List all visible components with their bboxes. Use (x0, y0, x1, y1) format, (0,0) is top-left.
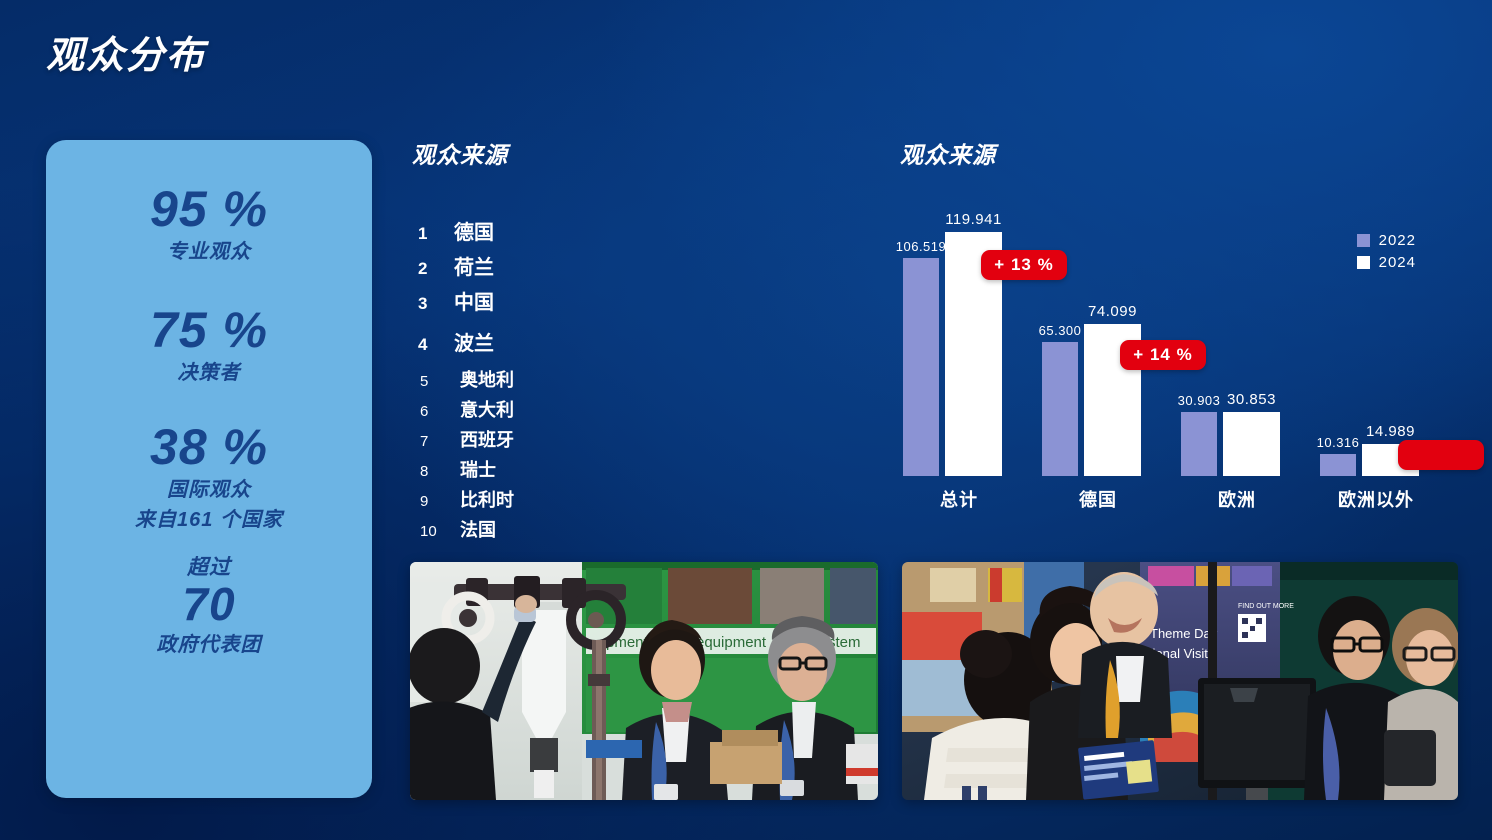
chart-heading: 观众来源 (900, 136, 996, 170)
stat-value-professional: 95 % (46, 184, 372, 235)
x-axis-label-outside-europe: 欧洲以外 (1338, 486, 1414, 512)
list-item: 2 荷兰 (418, 251, 628, 280)
bar-2022: 30.903 (1181, 412, 1217, 476)
list-item-rank: 3 (418, 294, 454, 314)
list-item: 5 奥地利 (418, 366, 628, 392)
photo-visitor-conversation: Theme Day sional Visit FIND OUT MORE (902, 562, 1458, 800)
slide-root: 观众分布 95 % 专业观众 75 % 决策者 38 % 国际观众 来自161 … (0, 0, 1492, 840)
list-item: 4 波兰 (418, 327, 628, 356)
photo-visitor-conversation-image: Theme Day sional Visit FIND OUT MORE (902, 562, 1458, 800)
stat-label-delegations: 政府代表团 (46, 632, 372, 658)
bar-group-germany: 65.300 74.099 + 14 % (1042, 190, 1154, 476)
stat-label-international-line2: 来自161 个国家 (46, 507, 372, 533)
visitor-origin-list: 1 德国 2 荷兰 3 中国 4 波兰 5 奥地利 6 意大利 7 西班牙 8 (418, 216, 628, 546)
bar-value-label-2024: 119.941 (945, 211, 1002, 228)
list-item: 8 瑞士 (418, 456, 628, 482)
bar-group-outside-europe: 10.316 14.989 (1320, 190, 1432, 476)
stat-label-professional: 专业观众 (46, 239, 372, 265)
list-item-label: 奥地利 (456, 366, 514, 392)
list-item-label: 法国 (456, 516, 496, 542)
growth-badge-outside-europe (1398, 440, 1484, 470)
bar-value-label-2022: 30.903 (1178, 393, 1221, 408)
list-item-label: 德国 (454, 216, 494, 245)
stat-label-international-line1: 国际观众 (46, 477, 372, 503)
list-item-rank: 2 (418, 259, 454, 279)
list-item-label: 意大利 (456, 396, 514, 422)
visitor-origin-list-heading: 观众来源 (412, 136, 508, 170)
x-axis-label-germany: 德国 (1079, 486, 1117, 512)
list-item-highlighted: 3 中国 (418, 286, 628, 315)
bar-value-label-2024: 14.989 (1366, 423, 1415, 440)
list-item: 6 意大利 (418, 396, 628, 422)
bar-2022: 10.316 (1320, 454, 1356, 476)
list-item-rank: 1 (418, 224, 454, 244)
stat-block-professional: 95 % 专业观众 (46, 184, 372, 265)
bar-group-total: 106.519 119.941 + 13 % (903, 190, 1015, 476)
bar-2022: 65.300 (1042, 342, 1078, 476)
list-item-rank: 7 (418, 433, 456, 450)
statistics-card: 95 % 专业观众 75 % 决策者 38 % 国际观众 来自161 个国家 超… (46, 140, 372, 798)
list-item: 7 西班牙 (418, 426, 628, 452)
photo-equipment-demo: pment equipment Cl stem (410, 562, 878, 800)
photo-equipment-demo-image: pment equipment Cl stem (410, 562, 878, 800)
visitor-origin-bar-chart: 2022 2024 106.519 119.941 + 13 % (890, 190, 1492, 535)
list-item: 9 比利时 (418, 486, 628, 512)
list-item: 1 德国 (418, 216, 628, 245)
list-item-rank: 5 (418, 373, 456, 390)
bar-2022: 106.519 (903, 258, 939, 476)
stat-value-international: 38 % (46, 422, 372, 473)
bar-value-label-2024: 30.853 (1227, 391, 1276, 408)
svg-text:FIND OUT MORE: FIND OUT MORE (1238, 603, 1294, 610)
list-item-rank: 8 (418, 463, 456, 480)
list-item-rank: 4 (418, 335, 454, 355)
list-item-label: 比利时 (456, 486, 514, 512)
bar-value-label-2024: 74.099 (1088, 303, 1137, 320)
chart-x-axis-labels: 总计 德国 欧洲 欧洲以外 (890, 486, 1492, 520)
list-item-rank: 6 (418, 403, 456, 420)
list-item-rank: 9 (418, 493, 456, 510)
svg-text:equipment: equipment (696, 634, 767, 651)
x-axis-label-europe: 欧洲 (1218, 486, 1256, 512)
chart-plot-area: 106.519 119.941 + 13 % 65.300 74.099 (890, 190, 1492, 476)
list-item-rank: 10 (418, 523, 456, 540)
svg-text:Theme Day: Theme Day (1150, 626, 1218, 641)
stat-value-decision-makers: 75 % (46, 305, 372, 356)
bar-2024: 30.853 (1223, 412, 1280, 476)
x-axis-label-total: 总计 (940, 486, 978, 512)
list-item: 10 法国 (418, 516, 628, 542)
bar-value-label-2022: 106.519 (896, 239, 947, 254)
bar-group-europe: 30.903 30.853 (1181, 190, 1293, 476)
bar-value-label-2022: 65.300 (1039, 323, 1082, 338)
list-item-label: 瑞士 (456, 456, 496, 482)
stat-block-international: 38 % 国际观众 来自161 个国家 (46, 422, 372, 533)
stat-label-decision-makers: 决策者 (46, 360, 372, 386)
bar-group-bars: 30.903 30.853 (1181, 412, 1280, 476)
list-item-label: 波兰 (454, 327, 494, 356)
stat-value-delegations: 70 (46, 581, 372, 628)
list-item-label: 西班牙 (456, 426, 514, 452)
stat-block-decision-makers: 75 % 决策者 (46, 305, 372, 386)
list-item-label: 中国 (454, 286, 494, 315)
bar-value-label-2022: 10.316 (1317, 435, 1360, 450)
list-item-label: 荷兰 (454, 251, 494, 280)
stat-block-delegations: 超过 70 政府代表团 (46, 555, 372, 658)
page-title: 观众分布 (46, 36, 206, 78)
